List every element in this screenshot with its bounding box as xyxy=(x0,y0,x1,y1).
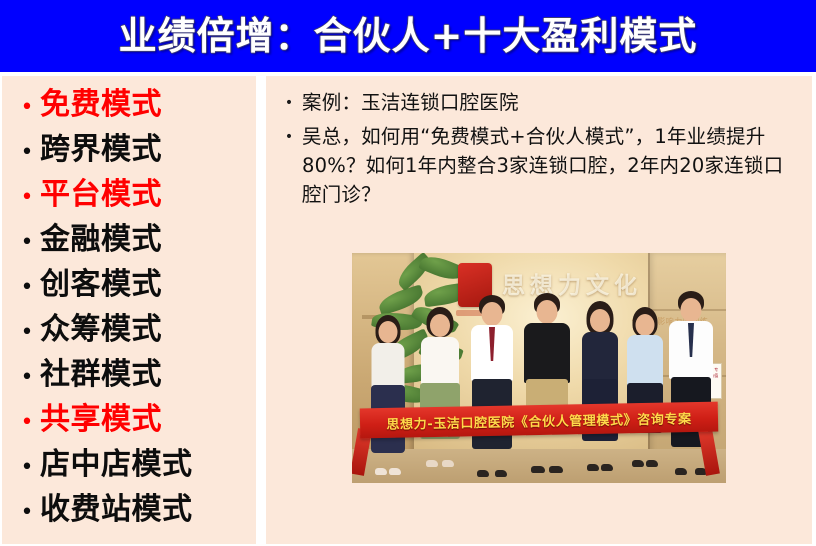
list-item[interactable]: • 吴总，如何用“免费模式+合伙人模式”，1年业绩提升80%？如何1年内整合3家… xyxy=(276,122,798,209)
person-5 xyxy=(574,299,626,481)
list-item[interactable]: • 案例：玉洁连锁口腔医院 xyxy=(276,88,798,118)
bullet-icon: • xyxy=(14,187,40,209)
mode-label: 平台模式 xyxy=(40,180,162,210)
list-item[interactable]: • 创客模式 xyxy=(2,270,256,315)
bullet-icon: • xyxy=(14,457,40,479)
case-title-text: 案例：玉洁连锁口腔医院 xyxy=(302,88,519,117)
mode-label: 金融模式 xyxy=(40,225,162,255)
bullet-icon: • xyxy=(14,322,40,344)
person-6 xyxy=(620,303,670,481)
ten-profit-models-list: • 免费模式 • 跨界模式 • 平台模式 • 金融模式 • 创客模式 • xyxy=(2,76,256,540)
left-content-panel: • 免费模式 • 跨界模式 • 平台模式 • 金融模式 • 创客模式 • xyxy=(2,76,256,544)
person-2 xyxy=(414,305,466,481)
page-title: 业绩倍增：合伙人+十大盈利模式 xyxy=(119,17,698,55)
bullet-icon: • xyxy=(14,502,40,524)
bullet-icon: • xyxy=(276,88,302,118)
slide-title-bar: 业绩倍增：合伙人+十大盈利模式 xyxy=(0,0,816,72)
mode-label: 创客模式 xyxy=(40,270,162,300)
list-item[interactable]: • 社群模式 xyxy=(2,360,256,405)
case-bullet-list: • 案例：玉洁连锁口腔医院 • 吴总，如何用“免费模式+合伙人模式”，1年业绩提… xyxy=(266,76,812,209)
bullet-icon: • xyxy=(14,97,40,119)
mode-label: 跨界模式 xyxy=(40,135,162,165)
mode-label: 社群模式 xyxy=(40,360,162,390)
bullet-icon: • xyxy=(14,142,40,164)
right-content-panel: • 案例：玉洁连锁口腔医院 • 吴总，如何用“免费模式+合伙人模式”，1年业绩提… xyxy=(266,76,812,544)
list-item[interactable]: • 跨界模式 xyxy=(2,135,256,180)
bullet-icon: • xyxy=(14,412,40,434)
bullet-icon: • xyxy=(276,122,302,152)
list-item[interactable]: • 收费站模式 xyxy=(2,495,256,540)
banner-text: 思想力-玉洁口腔医院《合伙人管理模式》咨询专案 xyxy=(386,408,692,433)
person-1 xyxy=(364,311,412,481)
list-item[interactable]: • 免费模式 xyxy=(2,90,256,135)
bullet-icon: • xyxy=(14,232,40,254)
list-item[interactable]: • 平台模式 xyxy=(2,180,256,225)
list-item[interactable]: • 共享模式 xyxy=(2,405,256,450)
case-question-text: 吴总，如何用“免费模式+合伙人模式”，1年业绩提升80%？如何1年内整合3家连锁… xyxy=(302,122,798,209)
group-photo: 思想力文化 做最有影响力的训练 咨询服务 专业团队 价值创造 xyxy=(352,253,726,483)
person-3 xyxy=(464,295,520,481)
slide-root: 业绩倍增：合伙人+十大盈利模式 • 免费模式 • 跨界模式 • 平台模式 • 金… xyxy=(0,0,816,546)
list-item[interactable]: • 金融模式 xyxy=(2,225,256,270)
mode-label: 共享模式 xyxy=(40,405,162,435)
mode-label: 收费站模式 xyxy=(40,495,193,525)
list-item[interactable]: • 众筹模式 xyxy=(2,315,256,360)
person-4 xyxy=(518,293,576,481)
bullet-icon: • xyxy=(14,277,40,299)
mode-label: 店中店模式 xyxy=(40,450,193,480)
list-item[interactable]: • 店中店模式 xyxy=(2,450,256,495)
mode-label: 众筹模式 xyxy=(40,315,162,345)
mode-label: 免费模式 xyxy=(40,90,162,120)
bullet-icon: • xyxy=(14,367,40,389)
